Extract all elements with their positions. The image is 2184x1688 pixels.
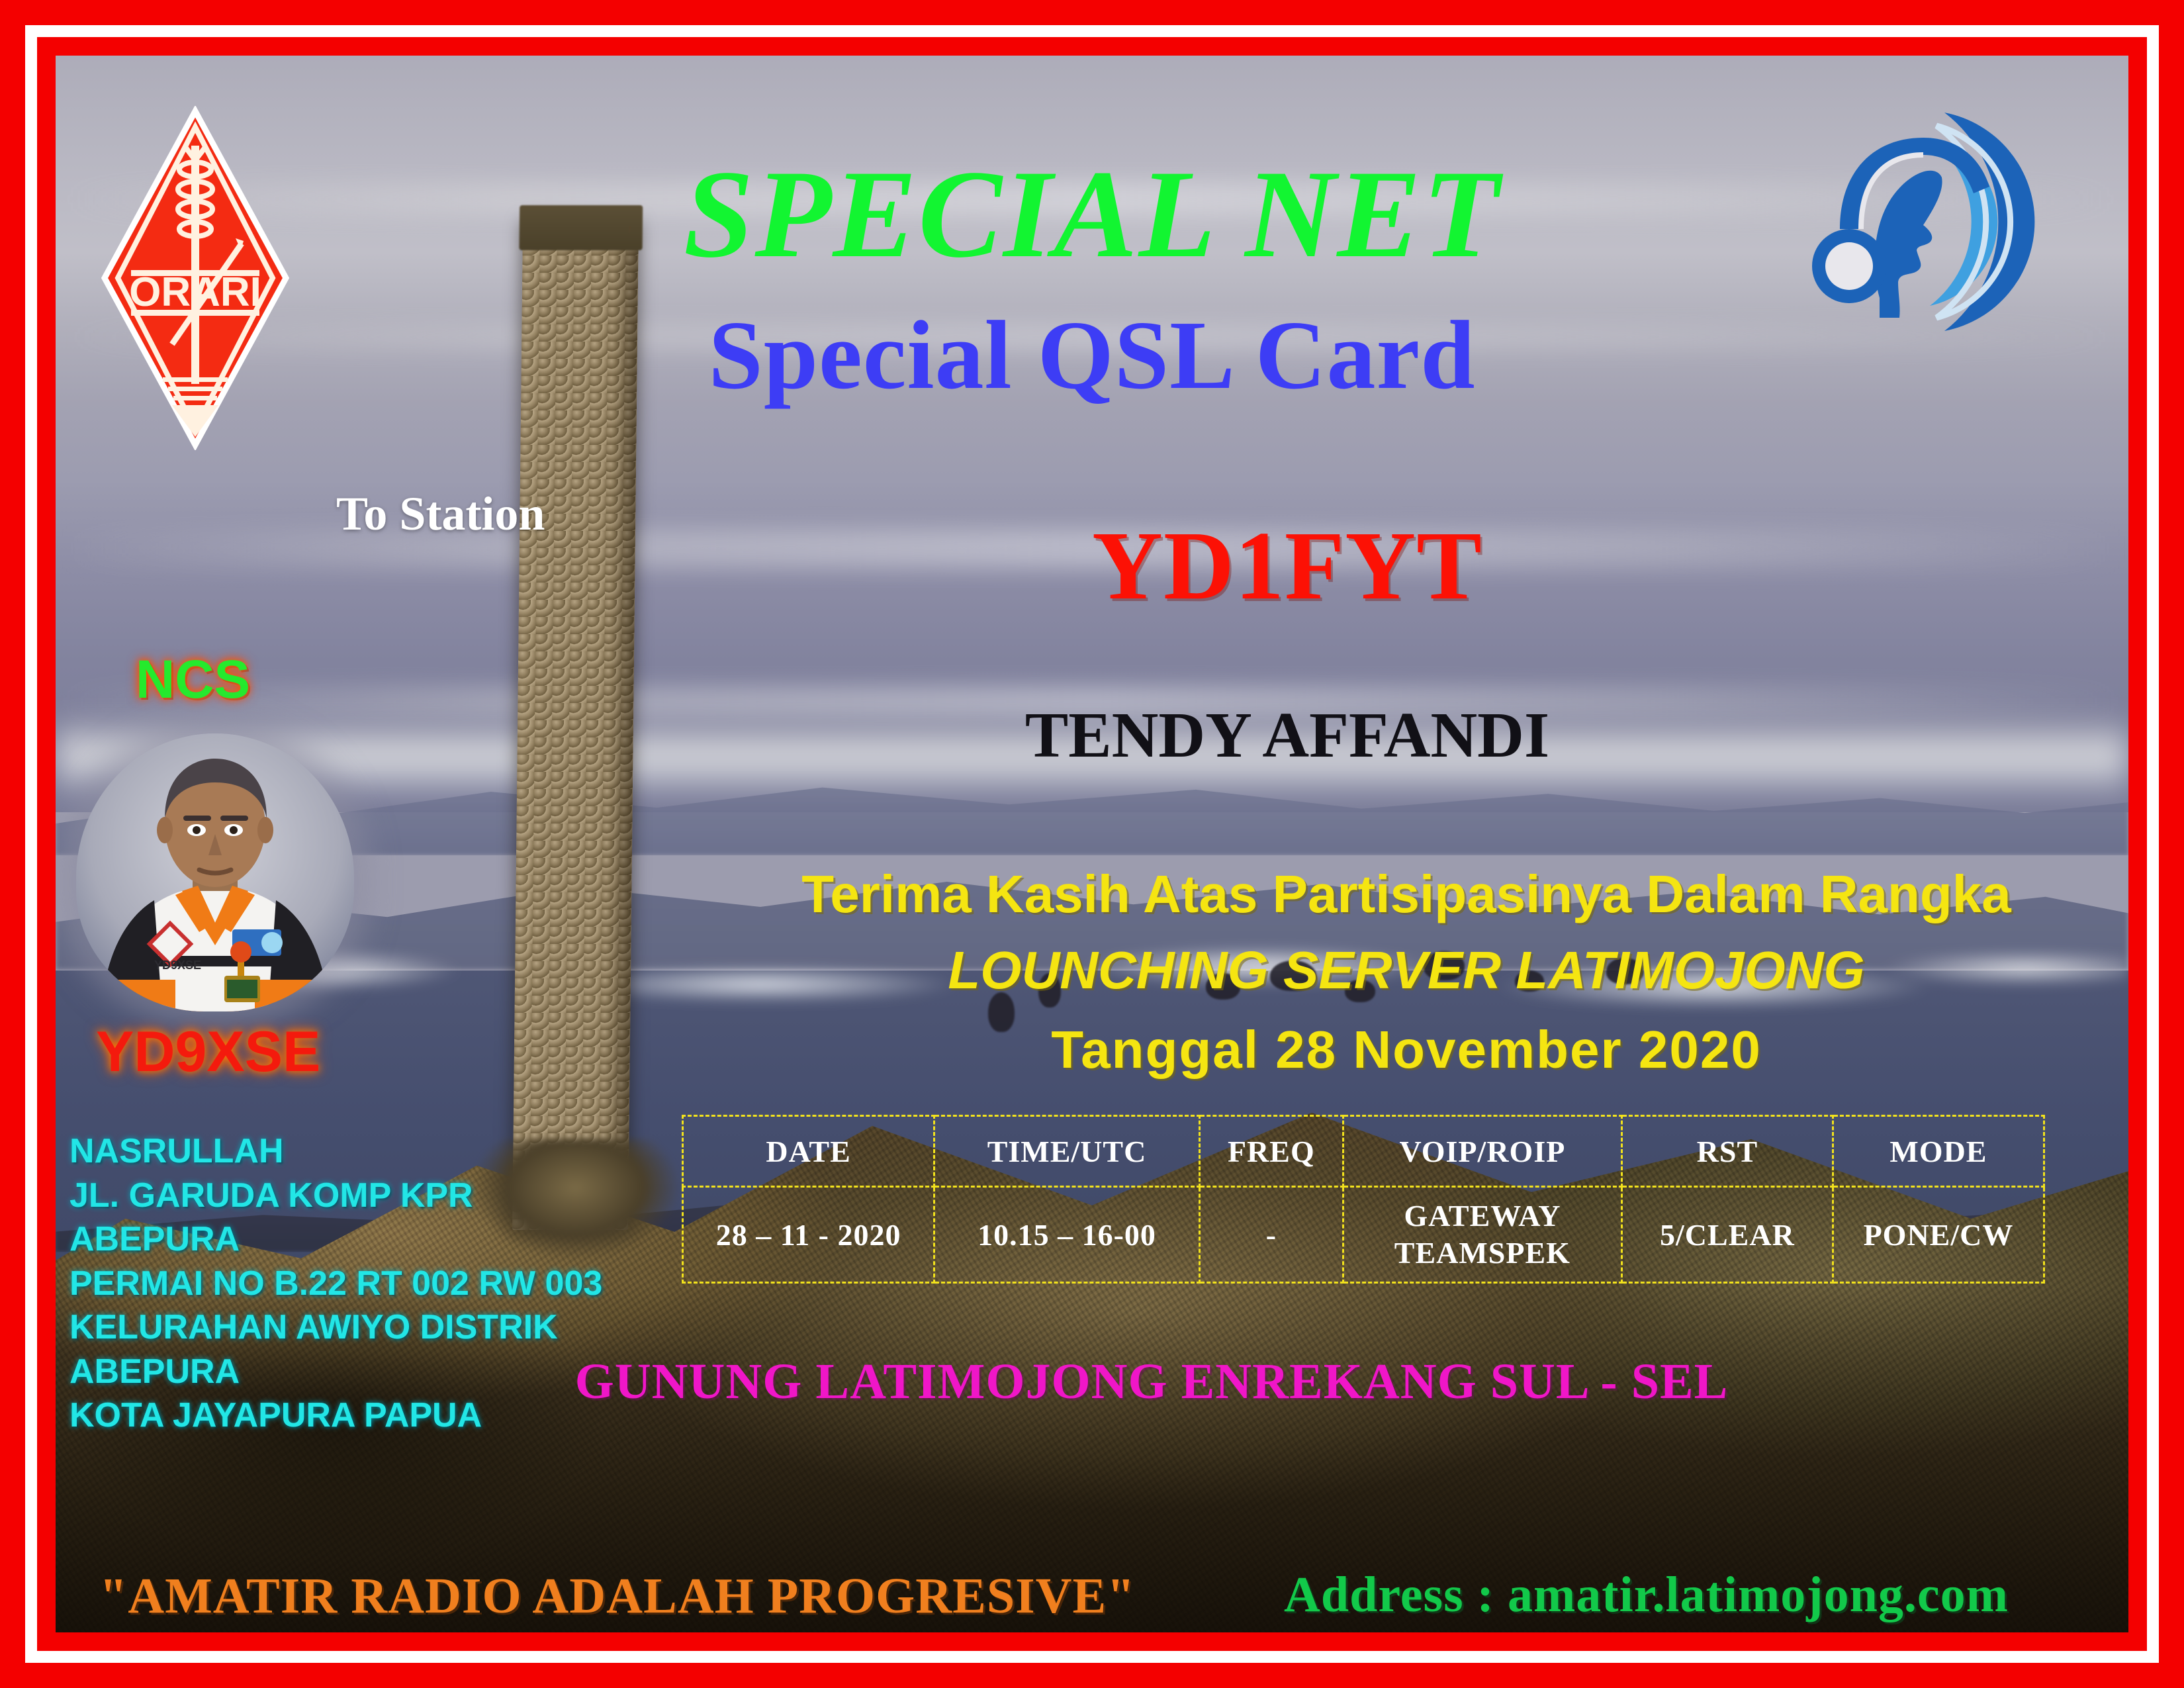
qsl-card: ORARI SPECIAL NET Special QSL Card To St…	[0, 0, 2184, 1688]
outer-red-border	[0, 0, 2184, 1688]
